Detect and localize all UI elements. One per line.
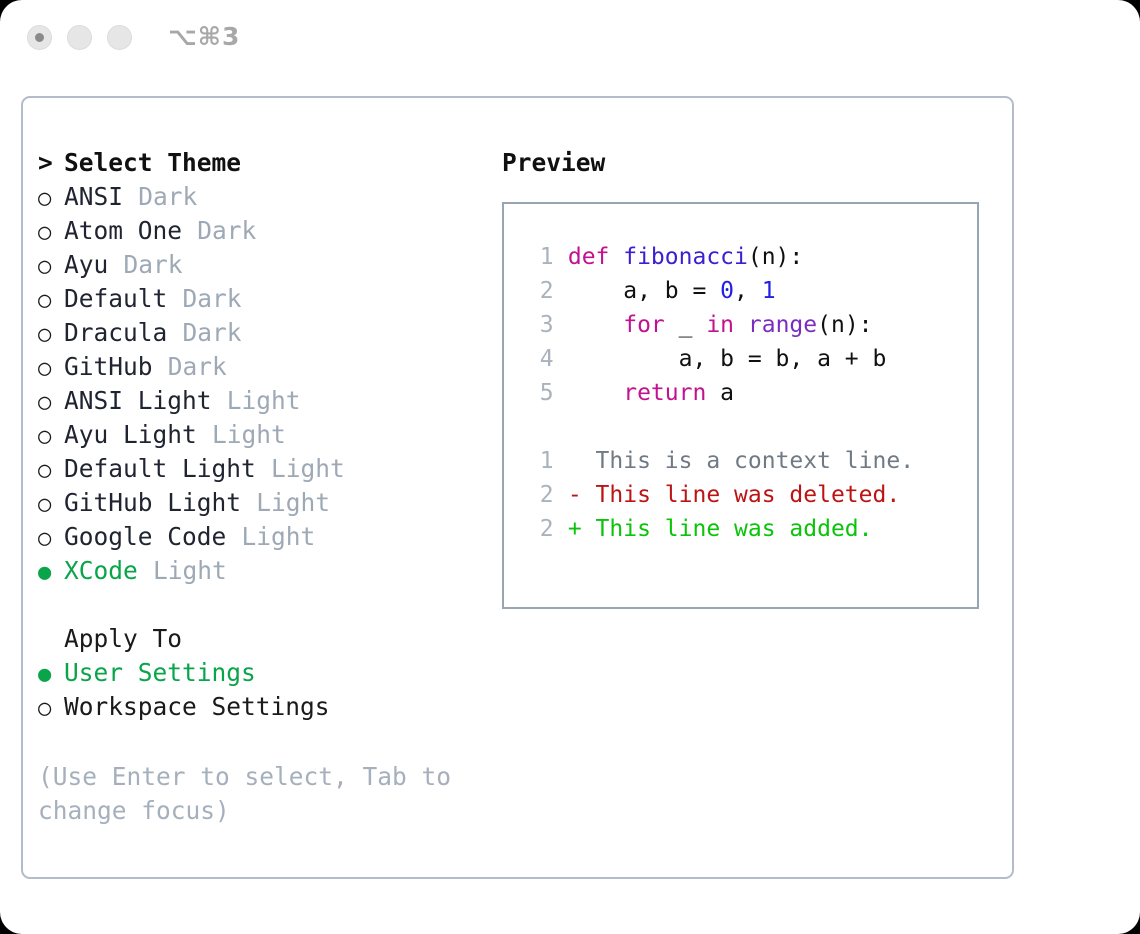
theme-list-item[interactable]: ○DefaultDark xyxy=(38,282,488,316)
theme-kind-badge: Light xyxy=(241,522,315,551)
theme-list-item[interactable]: ○Default LightLight xyxy=(38,452,488,486)
code-token: (n): xyxy=(748,244,803,270)
radio-unselected-icon: ○ xyxy=(38,352,64,386)
code-token: def xyxy=(568,244,623,270)
theme-list-item[interactable]: ○ANSI LightLight xyxy=(38,384,488,418)
line-number: 1 xyxy=(526,240,554,274)
theme-name: Default Light xyxy=(64,454,256,483)
traffic-light-group xyxy=(27,25,132,50)
minimize-button-icon[interactable] xyxy=(67,25,92,50)
theme-name: Default xyxy=(64,284,167,313)
theme-kind-badge: Light xyxy=(271,454,345,483)
radio-selected-icon: ● xyxy=(38,556,64,590)
radio-unselected-icon: ○ xyxy=(38,386,64,420)
theme-list: ○ANSIDark○Atom OneDark○AyuDark○DefaultDa… xyxy=(38,180,488,588)
theme-list-item[interactable]: ○ANSIDark xyxy=(38,180,488,214)
theme-kind-badge: Dark xyxy=(182,284,241,313)
theme-list-item[interactable]: ○Atom OneDark xyxy=(38,214,488,248)
theme-kind-badge: Dark xyxy=(197,216,256,245)
theme-name: Ayu Light xyxy=(64,420,197,449)
code-line: 5 return a xyxy=(504,376,977,410)
theme-name: Atom One xyxy=(64,216,182,245)
code-token: fibonacci xyxy=(623,244,748,270)
code-sample: 1def fibonacci(n):2 a, b = 0, 13 for _ i… xyxy=(504,240,977,410)
window-titlebar: ⌥⌘3 xyxy=(0,0,1140,78)
code-token xyxy=(568,312,623,338)
radio-unselected-icon: ○ xyxy=(38,284,64,318)
list-spacer xyxy=(38,588,488,622)
theme-name: Google Code xyxy=(64,522,226,551)
preview-box: 1def fibonacci(n):2 a, b = 0, 13 for _ i… xyxy=(502,202,979,609)
radio-unselected-icon: ○ xyxy=(38,216,64,250)
line-number: 1 xyxy=(526,444,554,478)
code-line: 4 a, b = b, a + b xyxy=(504,342,977,376)
radio-unselected-icon: ○ xyxy=(38,318,64,352)
radio-unselected-icon: ○ xyxy=(38,692,64,726)
diff-text: This line was added. xyxy=(582,516,873,542)
code-token: return xyxy=(623,380,706,406)
theme-kind-badge: Light xyxy=(153,556,227,585)
theme-name: GitHub xyxy=(64,352,153,381)
code-token: (n): xyxy=(817,312,872,338)
code-token: range xyxy=(748,312,817,338)
theme-name: ANSI Light xyxy=(64,386,212,415)
theme-list-item[interactable]: ○Ayu LightLight xyxy=(38,418,488,452)
code-line: 3 for _ in range(n): xyxy=(504,308,977,342)
theme-name: XCode xyxy=(64,556,138,585)
apply-to-title: Apply To xyxy=(64,624,182,653)
select-theme-title: Select Theme xyxy=(64,148,241,177)
code-token xyxy=(734,312,748,338)
theme-kind-badge: Dark xyxy=(168,352,227,381)
code-token: for xyxy=(623,312,665,338)
theme-name: Dracula xyxy=(64,318,167,347)
theme-kind-badge: Light xyxy=(227,386,301,415)
diff-sample: 1 This is a context line.2- This line wa… xyxy=(504,444,977,546)
close-button-icon[interactable] xyxy=(27,25,52,50)
apply-to-option-label: Workspace Settings xyxy=(64,692,330,721)
radio-unselected-icon: ○ xyxy=(38,522,64,556)
diff-sign: - xyxy=(568,482,582,508)
line-number: 5 xyxy=(526,376,554,410)
code-token: , xyxy=(734,278,762,304)
apply-to-options: ●User Settings○Workspace Settings xyxy=(38,656,488,724)
radio-unselected-icon: ○ xyxy=(38,420,64,454)
line-number: 2 xyxy=(526,274,554,308)
keyboard-shortcut-label: ⌥⌘3 xyxy=(168,22,240,51)
diff-text: This line was deleted. xyxy=(582,482,901,508)
code-token: in xyxy=(706,312,734,338)
radio-unselected-icon: ○ xyxy=(38,250,64,284)
code-token: _ xyxy=(665,312,707,338)
code-token: a, b = xyxy=(568,278,720,304)
apply-to-header: ○Apply To xyxy=(38,622,488,656)
line-number: 2 xyxy=(526,512,554,546)
select-theme-header: >Select Theme xyxy=(38,146,488,180)
keyboard-hint-text: (Use Enter to select, Tab to change focu… xyxy=(38,760,458,828)
line-number: 3 xyxy=(526,308,554,342)
diff-line: 2- This line was deleted. xyxy=(504,478,977,512)
line-number: 2 xyxy=(526,478,554,512)
diff-line: 1 This is a context line. xyxy=(504,444,977,478)
radio-selected-icon: ● xyxy=(38,658,64,692)
diff-sign xyxy=(568,448,582,474)
theme-kind-badge: Light xyxy=(256,488,330,517)
theme-kind-badge: Dark xyxy=(138,182,197,211)
theme-list-item[interactable]: ●XCodeLight xyxy=(38,554,488,588)
theme-kind-badge: Dark xyxy=(182,318,241,347)
code-token: 0 xyxy=(720,278,734,304)
caret-icon: > xyxy=(38,146,64,180)
theme-kind-badge: Light xyxy=(212,420,286,449)
active-indicator-dot xyxy=(35,33,44,42)
radio-unselected-icon: ○ xyxy=(38,454,64,488)
theme-name: ANSI xyxy=(64,182,123,211)
preview-pane: Preview 1def fibonacci(n):2 a, b = 0, 13… xyxy=(502,146,992,609)
app-window: ⌥⌘3 >Select Theme ○ANSIDark○Atom OneDark… xyxy=(0,0,1140,934)
code-line: 2 a, b = 0, 1 xyxy=(504,274,977,308)
maximize-button-icon[interactable] xyxy=(107,25,132,50)
code-token: a xyxy=(706,380,734,406)
radio-unselected-icon: ○ xyxy=(38,182,64,216)
tui-frame: >Select Theme ○ANSIDark○Atom OneDark○Ayu… xyxy=(21,96,1014,879)
code-token: a, b = b, a + b xyxy=(568,346,887,372)
code-token: 1 xyxy=(762,278,776,304)
apply-to-option-label: User Settings xyxy=(64,658,256,687)
code-token xyxy=(568,380,623,406)
theme-list-item[interactable]: ○GitHubDark xyxy=(38,350,488,384)
code-line: 1def fibonacci(n): xyxy=(504,240,977,274)
theme-kind-badge: Dark xyxy=(123,250,182,279)
preview-gap xyxy=(504,410,977,444)
apply-to-option[interactable]: ○Workspace Settings xyxy=(38,690,488,724)
diff-line: 2+ This line was added. xyxy=(504,512,977,546)
theme-list-item[interactable]: ○DraculaDark xyxy=(38,316,488,350)
theme-selection-pane: >Select Theme ○ANSIDark○Atom OneDark○Ayu… xyxy=(38,146,488,828)
apply-to-option[interactable]: ●User Settings xyxy=(38,656,488,690)
theme-name: GitHub Light xyxy=(64,488,241,517)
apply-to-marker-spacer: ○ xyxy=(38,624,64,658)
preview-heading: Preview xyxy=(502,146,992,180)
theme-name: Ayu xyxy=(64,250,108,279)
theme-list-item[interactable]: ○GitHub LightLight xyxy=(38,486,488,520)
diff-sign: + xyxy=(568,516,582,542)
diff-text: This is a context line. xyxy=(582,448,914,474)
line-number: 4 xyxy=(526,342,554,376)
theme-list-item[interactable]: ○Google CodeLight xyxy=(38,520,488,554)
radio-unselected-icon: ○ xyxy=(38,488,64,522)
theme-list-item[interactable]: ○AyuDark xyxy=(38,248,488,282)
